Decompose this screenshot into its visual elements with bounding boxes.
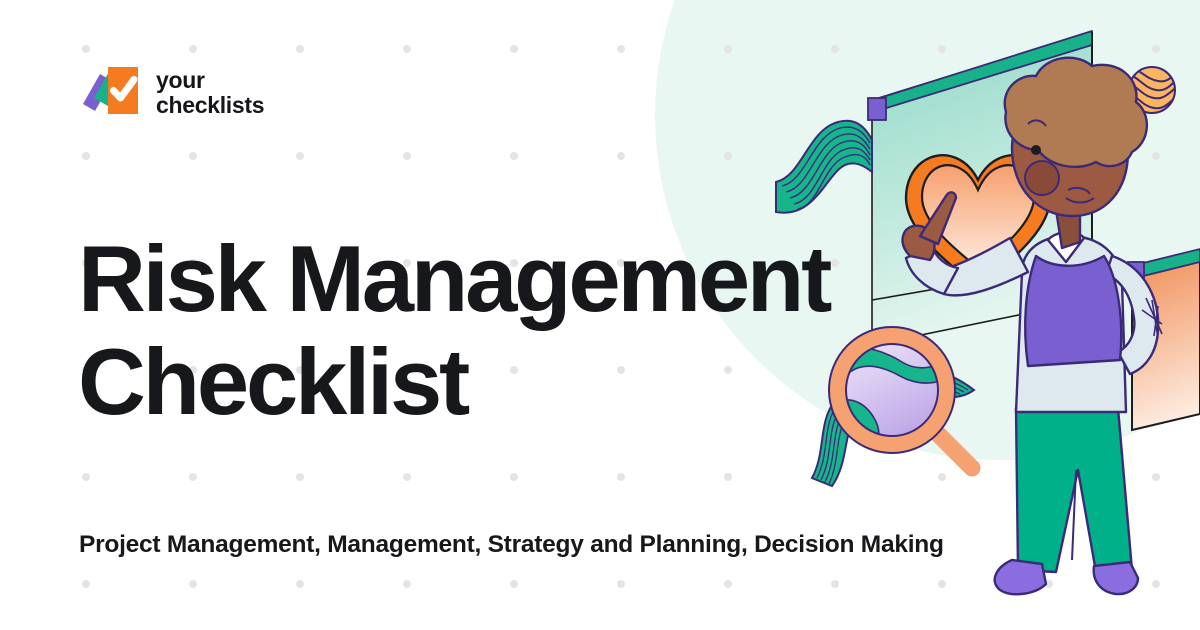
checklist-cards-icon xyxy=(80,62,142,124)
wavy-ribbon-upper xyxy=(776,121,872,213)
brand-name: your checklists xyxy=(156,68,264,118)
hero-illustration xyxy=(760,0,1200,630)
hero-banner: your checklists Risk Management Checklis… xyxy=(0,0,1200,630)
brand-logo[interactable]: your checklists xyxy=(80,62,264,124)
magnifier-icon xyxy=(829,327,972,468)
